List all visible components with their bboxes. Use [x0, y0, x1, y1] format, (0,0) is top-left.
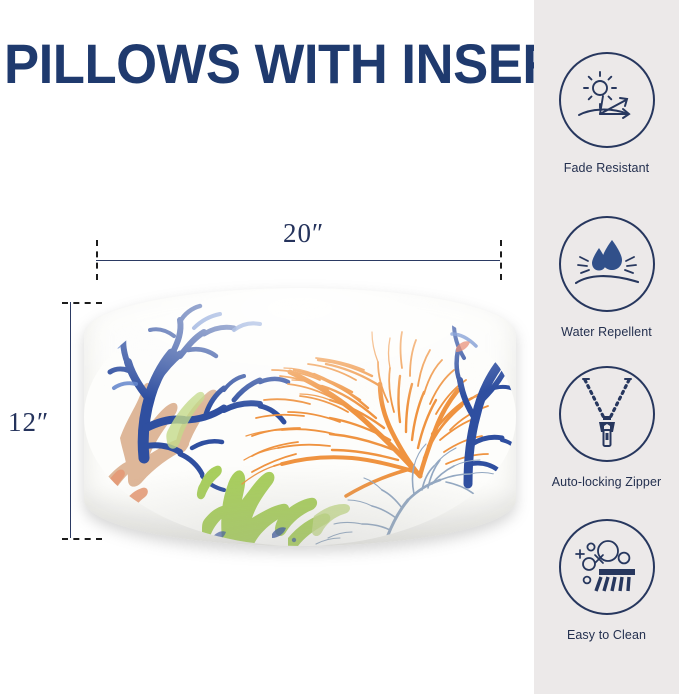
water-droplet-repellent-icon [559, 216, 655, 312]
height-dimension-label: 12″ [8, 407, 49, 438]
main-image-area: PILLOWS WITH INSERTS 20″ 12″ [0, 0, 534, 694]
coral-print-artwork [84, 288, 516, 546]
width-dimension-label: 20″ [283, 218, 324, 249]
feature-label: Easy to Clean [534, 628, 679, 643]
page-title: PILLOWS WITH INSERTS [4, 33, 502, 95]
feature-item-fade-resistant: Fade Resistant [534, 52, 679, 176]
brush-bubbles-clean-icon [559, 519, 655, 615]
width-tick-left [96, 240, 98, 280]
feature-item-easy-to-clean: Easy to Clean [534, 519, 679, 643]
feature-item-zipper: Auto-locking Zipper [534, 366, 679, 490]
feature-label: Fade Resistant [534, 161, 679, 176]
sun-fade-resistant-icon [559, 52, 655, 148]
feature-label: Water Repellent [534, 325, 679, 340]
width-dimension-line [96, 260, 500, 261]
product-infographic: PILLOWS WITH INSERTS 20″ 12″ [0, 0, 679, 694]
zipper-icon [559, 366, 655, 462]
feature-sidebar: Fade Resistant Water Repellent [534, 0, 679, 694]
height-dimension-line [70, 302, 71, 538]
feature-item-water-repellent: Water Repellent [534, 216, 679, 340]
pillow-body [84, 288, 516, 546]
feature-label: Auto-locking Zipper [534, 475, 679, 490]
pillow-product-image [84, 288, 516, 546]
width-tick-right [500, 240, 502, 280]
